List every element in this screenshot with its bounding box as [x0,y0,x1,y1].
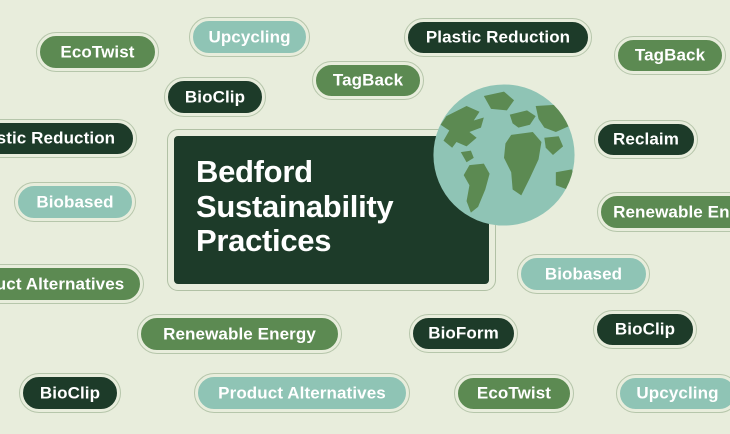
page-title-line: Sustainability [196,190,473,225]
tag-pill-label: Renewable Energy [147,325,332,342]
tag-pill-label: Upcycling [192,28,306,45]
tag-pill-label: EcoTwist [461,385,567,402]
tag-pill-label: Upcycling [620,385,730,402]
tag-pill[interactable]: BioForm [410,315,517,352]
tag-pill[interactable]: Upcycling [617,375,730,412]
tag-pill-label: EcoTwist [44,43,150,60]
tag-pill-label: TagBack [619,47,721,64]
tag-pill-label: Plastic Reduction [0,130,131,147]
tag-pill[interactable]: Product Alternatives [0,265,143,303]
tag-pill-label: BioClip [599,321,691,338]
tag-pill[interactable]: Renewable Energy [138,315,341,353]
tag-pill[interactable]: Renewable Energy [598,193,730,231]
tag-pill-label: TagBack [317,72,419,89]
page-title-line: Practices [196,224,473,259]
tag-pill-label: Reclaim [597,131,695,148]
tag-pill[interactable]: BioClip [594,311,696,348]
tag-cloud-canvas: EcoTwistUpcyclingPlastic ReductionTagBac… [0,0,730,434]
tag-pill[interactable]: Plastic Reduction [405,19,591,56]
tag-pill[interactable]: EcoTwist [455,375,573,412]
page-title-line: Bedford [196,155,473,190]
tag-pill-label: BioForm [412,325,515,342]
tag-pill-label: Renewable Energy [597,203,730,220]
center-title-card: BedfordSustainabilityPractices [168,130,495,290]
tag-pill[interactable]: Biobased [518,255,649,293]
tag-pill[interactable]: TagBack [313,62,423,99]
page-title: BedfordSustainabilityPractices [196,155,473,259]
tag-pill[interactable]: BioClip [165,78,265,116]
tag-pill-label: Product Alternatives [202,384,402,401]
tag-pill-label: BioClip [169,88,261,105]
tag-pill[interactable]: Product Alternatives [195,374,409,412]
tag-pill-label: Product Alternatives [0,275,140,292]
tag-pill-label: Biobased [20,193,129,210]
tag-pill[interactable]: TagBack [615,37,725,74]
tag-pill[interactable]: Reclaim [595,121,697,158]
tag-pill[interactable]: BioClip [20,374,120,412]
tag-pill-label: BioClip [24,384,116,401]
tag-pill[interactable]: Plastic Reduction [0,120,136,157]
tag-pill-label: Plastic Reduction [410,29,586,46]
tag-pill[interactable]: Upcycling [190,18,309,56]
tag-pill-label: Biobased [529,265,638,282]
tag-pill[interactable]: Biobased [15,183,135,221]
tag-pill[interactable]: EcoTwist [37,33,158,71]
